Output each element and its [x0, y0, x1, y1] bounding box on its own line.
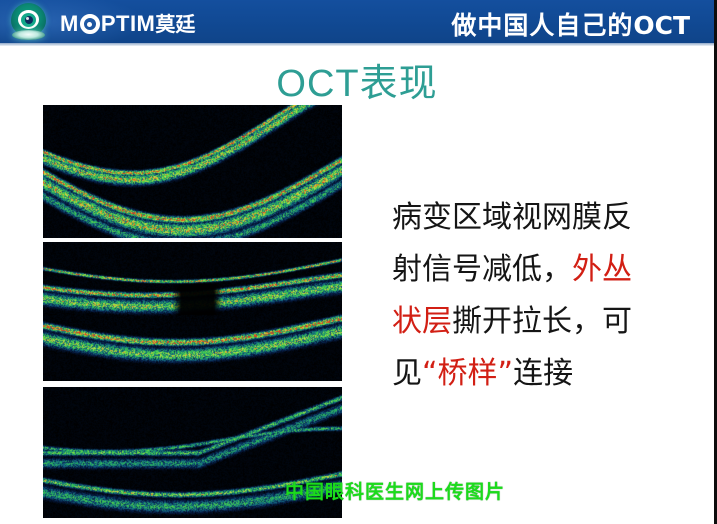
- body-line-3-black: 撕开拉长，可: [452, 304, 632, 339]
- header-tagline: 做中国人自己的OCT: [451, 6, 690, 42]
- body-line-3: 状层撕开拉长，可: [392, 296, 660, 348]
- body-line-1-text: 病变区域视网膜反: [392, 200, 632, 235]
- slide-canvas: MPTIM莫廷 做中国人自己的OCT OCT表现 病变区域视网膜反 射信号减低，…: [0, 0, 714, 524]
- body-line-2: 射信号减低，外丛: [392, 244, 660, 296]
- page-title: OCT表现: [0, 52, 714, 107]
- header-underline: [0, 43, 714, 46]
- brand-wordmark: MPTIM莫廷: [60, 8, 195, 37]
- tagline-oct: OCT: [633, 11, 690, 40]
- body-line-4: 见“桥样”连接: [392, 348, 660, 400]
- body-text-block: 病变区域视网膜反 射信号减低，外丛 状层撕开拉长，可 见“桥样”连接: [392, 192, 660, 400]
- brand-letter-m: M: [60, 11, 79, 36]
- brand-o-icon: [80, 14, 100, 34]
- logo-base-ellipse: [12, 30, 45, 40]
- body-line-4-black-b: 连接: [513, 356, 573, 391]
- tagline-chinese: 做中国人自己的: [451, 11, 633, 40]
- oct-b-scan-1: [43, 105, 342, 238]
- body-line-4-black-a: 见: [392, 356, 422, 391]
- brand-chinese: 莫廷: [155, 14, 195, 36]
- body-line-1: 病变区域视网膜反: [392, 192, 660, 244]
- watermark-text: 中国眼科医生网上传图片: [285, 477, 505, 504]
- body-line-3-red: 状层: [392, 304, 452, 339]
- header-bar: MPTIM莫廷 做中国人自己的OCT: [0, 0, 714, 43]
- logo-glint: [26, 17, 29, 20]
- oct-b-scan-2: [43, 242, 342, 381]
- eye-logo-icon: [9, 3, 48, 41]
- body-line-4-red: “桥样”: [422, 356, 513, 391]
- brand-latin-rest: PTIM: [101, 11, 156, 36]
- body-line-2-red: 外丛: [572, 252, 632, 287]
- body-line-2-black: 射信号减低，: [392, 252, 572, 287]
